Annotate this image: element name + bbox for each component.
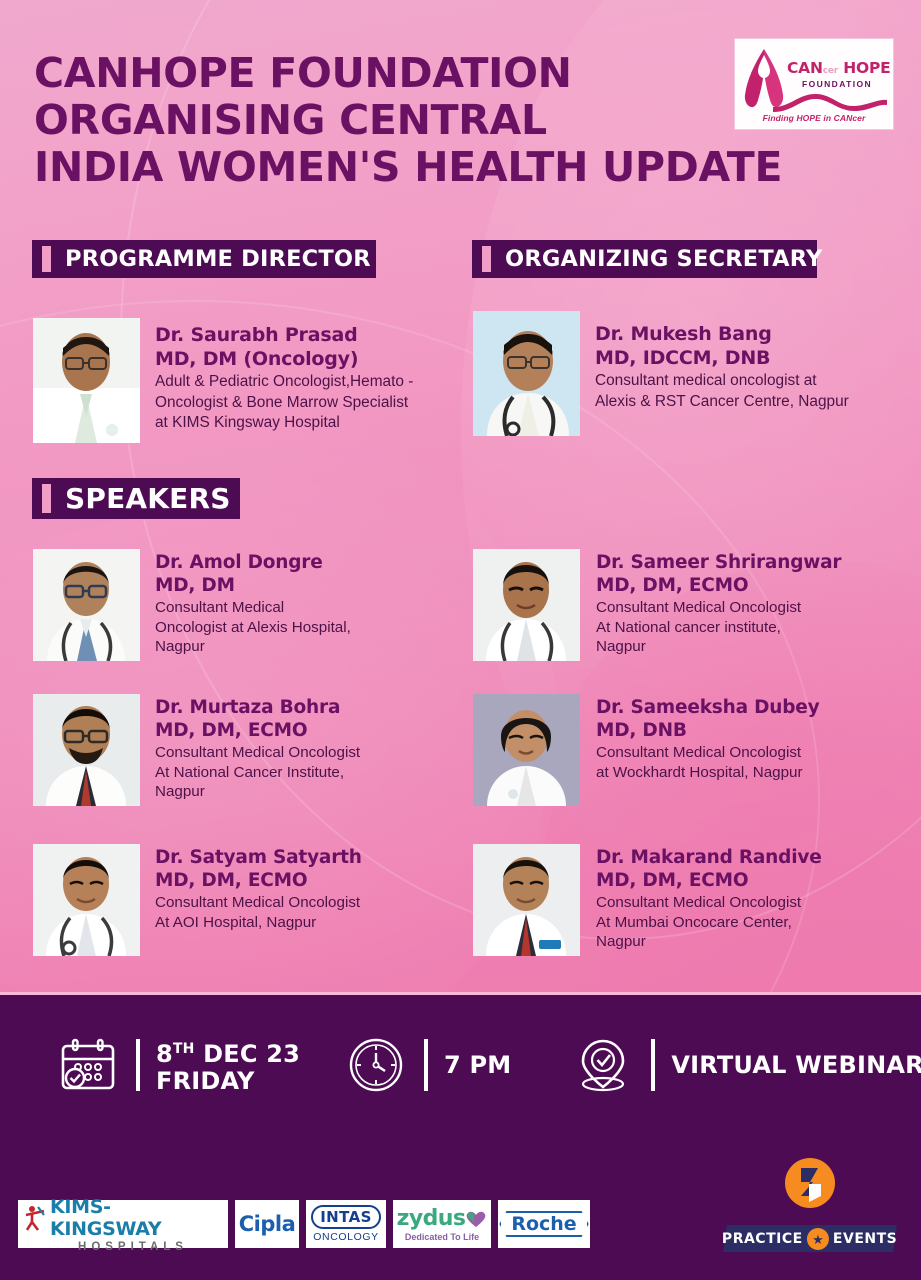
desc-line: At Mumbai Oncocare Center,	[596, 913, 822, 933]
desc-line: At National Cancer Institute,	[155, 763, 360, 783]
person-text: Dr. Murtaza Bohra MD, DM, ECMO Consultan…	[140, 694, 360, 806]
logo-name-mid: cer	[823, 66, 838, 76]
organizer-logo-practice-events: PRACTICE ★ EVENTS	[725, 1158, 895, 1252]
sponsor-logo-intas: INTAS ONCOLOGY	[306, 1200, 386, 1248]
desc-line: Consultant medical oncologist at	[595, 371, 849, 392]
speaker-card-5: Dr. Makarand Randive MD, DM, ECMO Consul…	[473, 844, 822, 956]
desc-line: Adult & Pediatric Oncologist,Hemato -	[155, 372, 413, 393]
person-description: Consultant Medical Oncologist At Nationa…	[155, 743, 360, 802]
person-card-organizing-secretary: Dr. Mukesh Bang MD, IDCCM, DNB Consultan…	[473, 311, 849, 436]
sponsor-logo-kims-kingsway: KIMS-KINGSWAY HOSPITALS	[18, 1200, 228, 1248]
sponsor-name: Roche	[499, 1211, 588, 1237]
canhope-logo: CANcer HOPE FOUNDATION Finding HOPE in C…	[734, 38, 894, 130]
zydus-heart-icon	[465, 1210, 487, 1228]
event-date-item: 8TH DEC 23 FRIDAY	[58, 1035, 300, 1095]
person-text: Dr. Amol Dongre MD, DM Consultant Medica…	[140, 549, 351, 661]
avatar	[473, 311, 580, 436]
desc-line: Consultant Medical Oncologist	[596, 598, 841, 618]
person-text: Dr. Makarand Randive MD, DM, ECMO Consul…	[580, 844, 822, 956]
footer-divider	[0, 992, 921, 995]
accent-bar	[42, 484, 51, 513]
event-mode-item: VIRTUAL WEBINAR	[573, 1035, 921, 1095]
location-pin-check-icon	[573, 1035, 633, 1095]
person-name: Dr. Sameer Shrirangwar	[596, 552, 841, 574]
desc-line: Consultant Medical Oncologist	[596, 743, 819, 763]
title-line-2: ORGANISING CENTRAL	[34, 97, 694, 144]
person-degrees: MD, DM, ECMO	[155, 719, 360, 743]
person-degrees: MD, DM, ECMO	[596, 869, 822, 893]
avatar	[33, 549, 140, 661]
title-line-1: CANHOPE FOUNDATION	[34, 50, 694, 97]
poster-canvas: CANHOPE FOUNDATION ORGANISING CENTRAL IN…	[0, 0, 921, 1280]
poster-footer: 8TH DEC 23 FRIDAY	[0, 995, 921, 1280]
desc-line: Consultant Medical Oncologist	[155, 893, 362, 913]
person-name: Dr. Saurabh Prasad	[155, 324, 413, 347]
desc-line: at KIMS Kingsway Hospital	[155, 413, 413, 434]
person-degrees: MD, DM, ECMO	[596, 574, 841, 598]
date-weekday: FRIDAY	[156, 1068, 300, 1095]
sponsor-name: Cipla	[239, 1212, 296, 1236]
desc-line: Nagpur	[155, 637, 351, 657]
event-details-row: 8TH DEC 23 FRIDAY	[0, 1015, 921, 1115]
person-description: Consultant Medical Oncologist At Nationa…	[596, 598, 841, 657]
logo-wordmark: CANcer HOPE FOUNDATION	[787, 59, 887, 89]
person-text: Dr. Saurabh Prasad MD, DM (Oncology) Adu…	[140, 318, 413, 443]
person-degrees: MD, DM, ECMO	[155, 869, 362, 893]
desc-line: Consultant Medical Oncologist	[155, 743, 360, 763]
event-date-text: 8TH DEC 23 FRIDAY	[156, 1036, 300, 1095]
sponsor-subtitle: Dedicated To Life	[405, 1232, 479, 1242]
star-icon: ★	[807, 1228, 829, 1250]
accent-bar	[42, 246, 51, 272]
ribbon-wave-icon	[773, 91, 888, 113]
person-text: Dr. Sameer Shrirangwar MD, DM, ECMO Cons…	[580, 549, 841, 661]
person-name: Dr. Murtaza Bohra	[155, 697, 360, 719]
separator	[136, 1039, 140, 1091]
calendar-icon	[58, 1035, 118, 1095]
section-header-programme-director: PROGRAMME DIRECTOR	[32, 240, 376, 278]
person-name: Dr. Makarand Randive	[596, 847, 822, 869]
avatar	[473, 844, 580, 956]
desc-line: Oncologist & Bone Marrow Specialist	[155, 393, 413, 414]
avatar	[473, 694, 580, 806]
clock-icon	[346, 1035, 406, 1095]
desc-line: At National cancer institute,	[596, 618, 841, 638]
desc-line: at Wockhardt Hospital, Nagpur	[596, 763, 819, 783]
avatar	[33, 694, 140, 806]
person-description: Consultant Medical Oncologist At AOI Hos…	[155, 893, 362, 932]
desc-line: Oncologist at Alexis Hospital,	[155, 618, 351, 638]
person-description: Consultant Medical Oncologist at Wockhar…	[596, 743, 819, 782]
logo-name-main: CAN	[787, 59, 823, 77]
speaker-card-3: Dr. Sameeksha Dubey MD, DNB Consultant M…	[473, 694, 819, 806]
sponsor-name: KIMS-KINGSWAY	[50, 1196, 222, 1240]
organizer-word-1: PRACTICE	[722, 1231, 803, 1247]
sponsor-subtitle: HOSPITALS	[58, 1241, 188, 1253]
person-description: Consultant Medical Oncologist At Mumbai …	[596, 893, 822, 952]
sponsor-logo-cipla: Cipla	[235, 1200, 299, 1248]
separator	[424, 1039, 428, 1091]
separator	[651, 1039, 655, 1091]
person-degrees: MD, IDCCM, DNB	[595, 346, 849, 371]
accent-bar	[482, 246, 491, 272]
practice-events-wordmark: PRACTICE ★ EVENTS	[723, 1225, 897, 1252]
desc-line: Consultant Medical Oncologist	[596, 893, 822, 913]
desc-line: Alexis & RST Cancer Centre, Nagpur	[595, 392, 849, 413]
logo-subtitle: FOUNDATION	[787, 79, 887, 89]
sponsor-logo-roche: Roche	[498, 1200, 590, 1248]
date-month-year: DEC 23	[195, 1040, 300, 1068]
event-mode-text: VIRTUAL WEBINAR	[671, 1052, 921, 1079]
person-description: Adult & Pediatric Oncologist,Hemato - On…	[155, 372, 413, 434]
title-line-3: INDIA WOMEN'S HEALTH UPDATE	[34, 144, 694, 191]
logo-tagline: Finding HOPE in CANcer	[737, 113, 891, 123]
section-label: PROGRAMME DIRECTOR	[65, 246, 371, 272]
sponsor-name: zydus	[397, 1206, 466, 1231]
date-ordinal: TH	[173, 1041, 195, 1057]
speaker-card-0: Dr. Amol Dongre MD, DM Consultant Medica…	[33, 549, 351, 661]
person-text: Dr. Sameeksha Dubey MD, DNB Consultant M…	[580, 694, 819, 806]
sponsor-logos: KIMS-KINGSWAY HOSPITALS Cipla INTAS ONCO…	[18, 1200, 590, 1248]
organizer-word-2: EVENTS	[833, 1231, 897, 1247]
event-time-text: 7 PM	[444, 1052, 511, 1079]
event-time-item: 7 PM	[346, 1035, 511, 1095]
kims-figure-icon	[24, 1205, 46, 1231]
section-label: ORGANIZING SECRETARY	[505, 246, 823, 272]
person-name: Dr. Sameeksha Dubey	[596, 697, 819, 719]
desc-line: Nagpur	[155, 782, 360, 802]
avatar	[473, 549, 580, 661]
poster-header: CANHOPE FOUNDATION ORGANISING CENTRAL IN…	[0, 0, 921, 225]
avatar	[33, 318, 140, 443]
person-degrees: MD, DM	[155, 574, 351, 598]
section-header-speakers: SPEAKERS	[32, 478, 240, 519]
speaker-card-2: Dr. Murtaza Bohra MD, DM, ECMO Consultan…	[33, 694, 360, 806]
avatar	[33, 844, 140, 956]
speaker-card-4: Dr. Satyam Satyarth MD, DM, ECMO Consult…	[33, 844, 362, 956]
speaker-card-1: Dr. Sameer Shrirangwar MD, DM, ECMO Cons…	[473, 549, 841, 661]
date-day: 8	[156, 1040, 173, 1068]
person-text: Dr. Mukesh Bang MD, IDCCM, DNB Consultan…	[580, 311, 849, 436]
person-description: Consultant Medical Oncologist at Alexis …	[155, 598, 351, 657]
person-name: Dr. Satyam Satyarth	[155, 847, 362, 869]
poster-title: CANHOPE FOUNDATION ORGANISING CENTRAL IN…	[34, 50, 694, 191]
person-card-programme-director: Dr. Saurabh Prasad MD, DM (Oncology) Adu…	[33, 318, 413, 443]
desc-line: Nagpur	[596, 932, 822, 952]
section-label: SPEAKERS	[65, 482, 231, 515]
person-name: Dr. Mukesh Bang	[595, 323, 849, 346]
person-text: Dr. Satyam Satyarth MD, DM, ECMO Consult…	[140, 844, 362, 956]
logo-name-end: HOPE	[843, 59, 890, 77]
sponsor-subtitle: ONCOLOGY	[313, 1231, 378, 1243]
person-degrees: MD, DM (Oncology)	[155, 347, 413, 372]
person-degrees: MD, DNB	[596, 719, 819, 743]
desc-line: Consultant Medical	[155, 598, 351, 618]
sponsor-name: INTAS	[311, 1205, 381, 1229]
person-name: Dr. Amol Dongre	[155, 552, 351, 574]
section-header-organizing-secretary: ORGANIZING SECRETARY	[472, 240, 817, 278]
person-description: Consultant medical oncologist at Alexis …	[595, 371, 849, 412]
practice-events-mark-icon	[725, 1158, 895, 1216]
desc-line: Nagpur	[596, 637, 841, 657]
desc-line: At AOI Hospital, Nagpur	[155, 913, 362, 933]
sponsor-logo-zydus: zydus Dedicated To Life	[393, 1200, 491, 1248]
